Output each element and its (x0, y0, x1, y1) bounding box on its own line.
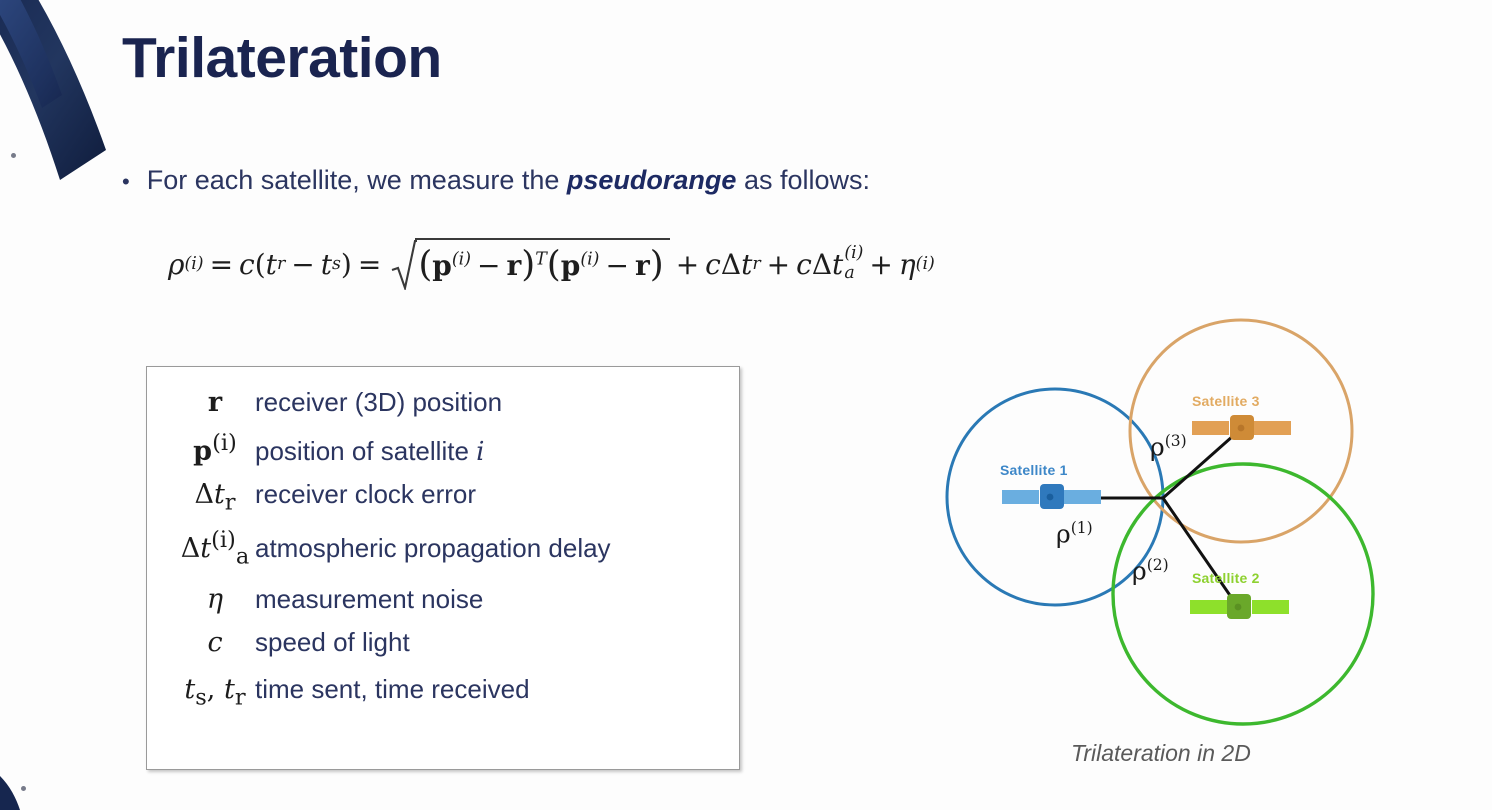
eq-plus-1: + (676, 248, 699, 281)
legend-row-dta: Δt(i)a atmospheric propagation delay (175, 527, 729, 569)
legend-symbol-eta: η (175, 584, 255, 615)
page-title: Trilateration (122, 26, 442, 92)
corner-swoosh-decoration (0, 0, 140, 180)
legend-row-ts-tr: ts, tr time sent, time received (175, 674, 729, 710)
eq-minus-2: − (477, 249, 500, 282)
bullet-text-after: as follows: (736, 165, 870, 195)
eq-c-3: c (796, 248, 812, 281)
margin-dot-bottom (21, 786, 26, 791)
trilateration-diagram: Satellite 1 Satellite 3 Satellite 2 ρ(1)… (920, 300, 1400, 740)
legend-desc-p: position of satellite i (255, 436, 484, 467)
bullet-text: For each satellite, we measure the pseud… (147, 165, 870, 196)
legend-desc-dta: atmospheric propagation delay (255, 533, 611, 564)
eq-dt-a: t (832, 248, 843, 281)
satellite-1-label: Satellite 1 (1000, 462, 1068, 478)
eq-dt-a-supsub: (i)a (844, 245, 863, 278)
eq-p-1: p (432, 249, 452, 282)
legend-symbol-p: p(i) (175, 430, 255, 467)
eq-minus-1: − (291, 248, 314, 281)
legend-row-c: c speed of light (175, 627, 729, 658)
eq-t-s: t (321, 248, 332, 281)
eq-dt-a-sup: (i) (844, 245, 863, 261)
legend-symbol-dtr: Δtr (175, 479, 255, 515)
eq-lparen-3: ( (547, 244, 561, 285)
eq-t-s-sub: s (332, 254, 341, 274)
satellite-3-label: Satellite 3 (1192, 393, 1260, 409)
legend-row-eta: η measurement noise (175, 584, 729, 615)
eq-delta-1: Δ (721, 248, 741, 281)
eq-r-2: r (635, 249, 650, 282)
diagram-caption: Trilateration in 2D (1071, 740, 1251, 767)
bullet-text-before: For each satellite, we measure the (147, 165, 567, 195)
eq-c-2: c (705, 248, 721, 281)
eq-t-r-sub: r (277, 254, 285, 274)
eq-c-1: c (239, 248, 255, 281)
legend-row-dtr: Δtr receiver clock error (175, 479, 729, 515)
legend-symbol-dta: Δt(i)a (175, 527, 255, 569)
bullet-item: • For each satellite, we measure the pse… (122, 165, 870, 196)
eq-eta-sup: (i) (916, 254, 935, 274)
eq-sqrt: (p(i)−r)T(p(i)−r) (391, 238, 669, 290)
legend-desc-dtr: receiver clock error (255, 479, 476, 510)
eq-r-1: r (506, 249, 521, 282)
eq-lparen-2: ( (418, 244, 432, 285)
bullet-emphasis-pseudorange: pseudorange (567, 165, 737, 195)
eq-sqrt-radicand: (p(i)−r)T(p(i)−r) (415, 238, 669, 290)
eq-rparen-1: ) (341, 248, 352, 281)
eq-p-2: p (561, 249, 581, 282)
legend-symbol-ts-tr: ts, tr (175, 674, 255, 710)
satellite-3-icon (1192, 415, 1291, 440)
eq-t-r: t (266, 248, 277, 281)
eq-rho: ρ (168, 248, 184, 281)
eq-dt-a-sub: a (844, 265, 863, 281)
eq-transpose-sup: T (535, 250, 547, 270)
legend-row-p: p(i) position of satellite i (175, 430, 729, 467)
range-label-rho-1: ρ(1) (1056, 519, 1093, 548)
bullet-marker: • (122, 171, 130, 193)
satellite-1-icon (1002, 484, 1101, 509)
satellite-2-label: Satellite 2 (1192, 570, 1260, 586)
radical-sign-icon (391, 238, 417, 290)
legend-desc-r: receiver (3D) position (255, 387, 502, 418)
eq-eta: η (899, 248, 916, 281)
eq-plus-3: + (869, 248, 892, 281)
legend-symbol-c: c (175, 627, 255, 658)
legend-desc-c: speed of light (255, 627, 410, 658)
eq-p-1-sup: (i) (452, 250, 471, 270)
eq-plus-2: + (767, 248, 790, 281)
eq-equals-1: = (210, 248, 233, 281)
margin-dot-top (11, 153, 16, 158)
legend-desc-ts-tr: time sent, time received (255, 674, 530, 705)
eq-p-2-sup: (i) (580, 250, 599, 270)
eq-equals-2: = (358, 248, 381, 281)
eq-rparen-2: ) (521, 244, 535, 285)
eq-rparen-3: ) (650, 244, 664, 285)
satellite-2-icon (1190, 594, 1289, 619)
legend-symbol-r: r (175, 387, 255, 418)
symbol-legend-list: r receiver (3D) position p(i) position o… (175, 387, 729, 722)
range-label-rho-3: ρ(3) (1150, 432, 1187, 461)
eq-rho-sup: (i) (184, 254, 203, 274)
eq-lparen-1: ( (255, 248, 266, 281)
legend-desc-eta: measurement noise (255, 584, 483, 615)
symbol-legend-box: r receiver (3D) position p(i) position o… (146, 366, 740, 770)
range-label-rho-2: ρ(2) (1132, 556, 1169, 585)
eq-dt-r: t (741, 248, 752, 281)
eq-delta-2: Δ (812, 248, 832, 281)
pseudorange-equation: ρ(i) = c(tr−ts) = (p(i)−r)T(p(i)−r) + cΔ… (168, 238, 935, 290)
range-line-2 (1163, 498, 1238, 607)
eq-minus-3: − (605, 249, 628, 282)
legend-row-r: r receiver (3D) position (175, 387, 729, 418)
eq-dt-r-sub: r (752, 254, 760, 274)
